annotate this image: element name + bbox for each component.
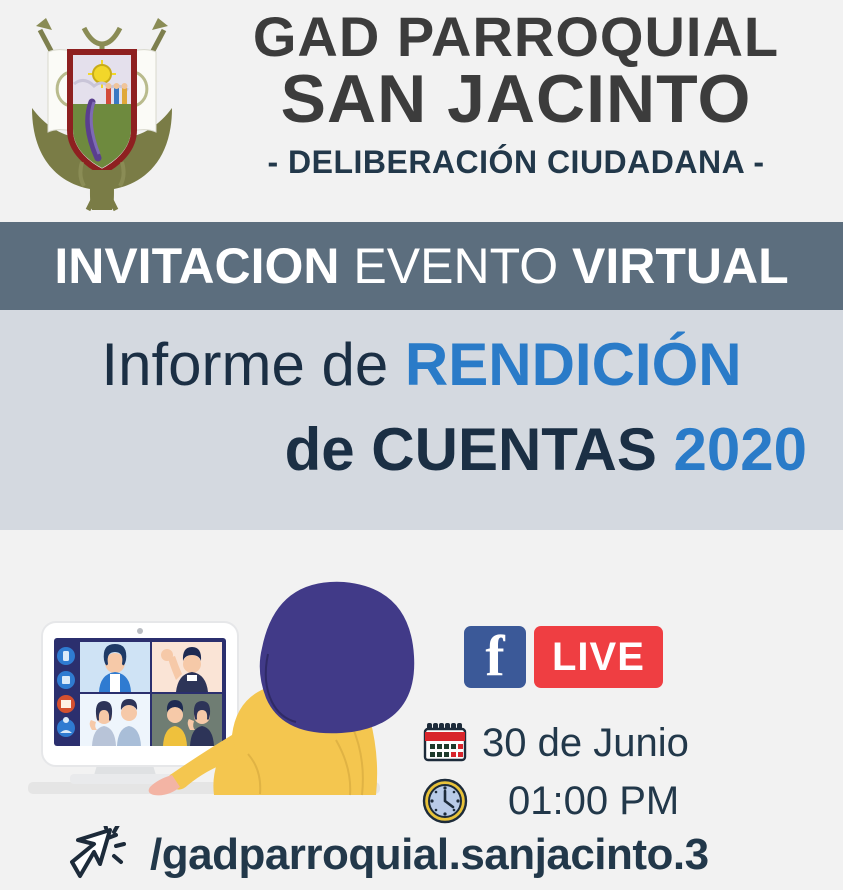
- live-label-badge: LIVE: [534, 626, 663, 688]
- poster-canvas: GAD PARROQUIAL SAN JACINTO - DELIBERACIÓ…: [0, 0, 843, 890]
- title-line-1: Informe de RENDICIÓN: [26, 330, 817, 401]
- event-title-block: Informe de RENDICIÓN de CUENTAS 2020: [0, 310, 843, 530]
- invitation-banner: INVITACION EVENTO VIRTUAL: [0, 222, 843, 310]
- header-section: GAD PARROQUIAL SAN JACINTO - DELIBERACIÓ…: [0, 0, 843, 222]
- event-date-text: 30 de Junio: [482, 721, 689, 766]
- banner-word-invitacion: INVITACION: [54, 238, 339, 294]
- title-plain-informe-de: Informe de: [101, 331, 405, 398]
- banner-word-evento: EVENTO: [353, 238, 558, 294]
- woman-watching-video-call-illustration: [0, 530, 440, 830]
- social-handle-row[interactable]: /gadparroquial.sanjacinto.3: [64, 826, 709, 884]
- clock-icon: [422, 778, 468, 824]
- header-text-block: GAD PARROQUIAL SAN JACINTO - DELIBERACIÓ…: [196, 8, 836, 181]
- event-time-row: 01:00 PM: [422, 778, 679, 824]
- calendar-icon: [422, 720, 468, 766]
- banner-text: INVITACION EVENTO VIRTUAL: [54, 237, 788, 295]
- municipal-coat-of-arms-icon: [14, 12, 190, 212]
- org-name-line1: GAD PARROQUIAL: [196, 8, 836, 67]
- title-accent-year: 2020: [674, 416, 807, 483]
- event-time-text: 01:00 PM: [482, 779, 679, 824]
- event-date-row: 30 de Junio: [422, 720, 689, 766]
- facebook-live-badge[interactable]: LIVE: [464, 626, 663, 688]
- bottom-section: LIVE: [0, 530, 843, 890]
- title-line-2: de CUENTAS 2020: [26, 415, 817, 486]
- org-name-line2: SAN JACINTO: [196, 65, 836, 134]
- title-plain-de-cuentas: de CUENTAS: [285, 416, 674, 483]
- facebook-logo-icon[interactable]: [464, 626, 526, 688]
- header-subtitle: - DELIBERACIÓN CIUDADANA -: [196, 144, 836, 181]
- banner-word-virtual: VIRTUAL: [572, 238, 789, 294]
- title-accent-rendicion: RENDICIÓN: [405, 331, 742, 398]
- social-handle-text[interactable]: /gadparroquial.sanjacinto.3: [150, 830, 709, 880]
- click-cursor-icon: [64, 826, 136, 884]
